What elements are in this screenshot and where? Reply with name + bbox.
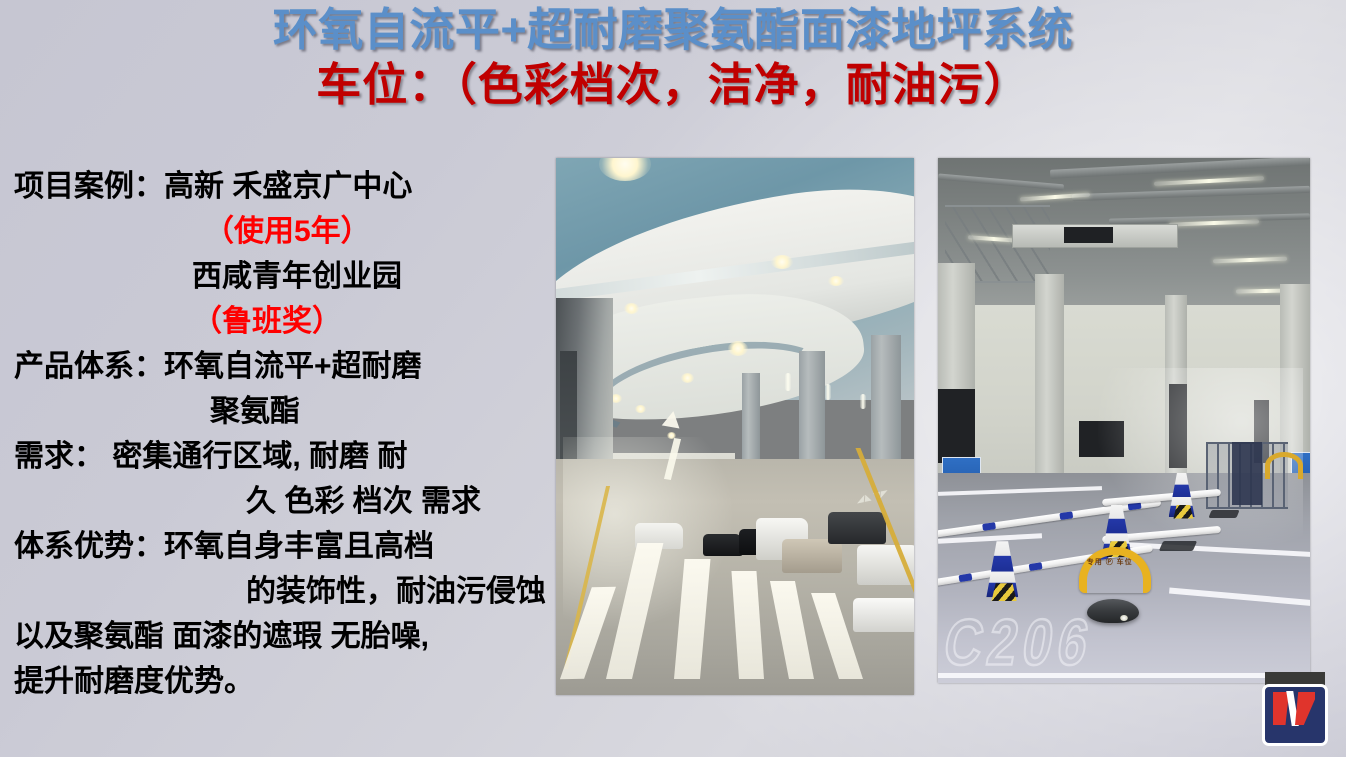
slide-title-block: 环氧自流平+超耐磨聚氨酯面漆地坪系统 车位：（色彩档次，洁净，耐油污） — [0, 6, 1346, 109]
structural-column — [1035, 274, 1065, 505]
body-line-luban-award: （鲁班奖） — [14, 299, 559, 344]
photo-left-garage-corridor: ◢◣◥◤ — [556, 158, 914, 695]
parked-car — [828, 512, 886, 544]
body-line-advantage-4: 提升耐磨度优势。 — [14, 659, 559, 704]
ceiling-tube-light — [785, 373, 791, 391]
ceiling-tube-light — [860, 394, 866, 409]
slide-body-text: 项目案例：高新 禾盛京广中心 （使用5年） 西咸青年创业园 （鲁班奖） 产品体系… — [14, 164, 559, 704]
floor-direction-arrow — [662, 409, 683, 428]
photo-right-parking-stalls: 专用 Ⓟ 车位 C206 — [938, 158, 1310, 683]
parking-lock-indicator — [1120, 615, 1128, 621]
title-line-2: 车位：（色彩档次，洁净，耐油污） — [0, 61, 1346, 110]
wall-dark-panel — [938, 389, 975, 463]
body-line-second-project: 西咸青年创业园 — [14, 254, 559, 299]
body-line-demand-2: 久 色彩 档次 需求 — [14, 479, 559, 524]
company-logo — [1262, 684, 1328, 757]
ceiling-light-icon — [635, 405, 646, 413]
body-line-project-case: 项目案例：高新 禾盛京广中心 — [14, 164, 559, 209]
body-line-product-system-2: 聚氨酯 — [14, 389, 559, 434]
crowd-barrier-panel — [1232, 442, 1262, 505]
floor-mat — [1208, 510, 1239, 518]
slide-canvas: 环氧自流平+超耐磨聚氨酯面漆地坪系统 车位：（色彩档次，洁净，耐油污） 项目案例… — [0, 0, 1346, 757]
body-line-advantage-2: 的装饰性，耐油污侵蚀 — [14, 569, 559, 614]
body-line-product-system: 产品体系：环氧自流平+超耐磨 — [14, 344, 559, 389]
parked-car — [703, 534, 743, 556]
floor-stall-number: C206 — [939, 605, 1101, 680]
overhead-sign-display — [1064, 227, 1112, 243]
body-line-demand: 需求： 密集通行区域, 耐磨 耐 — [14, 434, 559, 479]
body-line-usage-years: （使用5年） — [14, 209, 559, 254]
floor-mat — [1159, 541, 1197, 551]
ceiling-light-icon — [681, 373, 694, 383]
title-line-1: 环氧自流平+超耐磨聚氨酯面漆地坪系统 — [0, 6, 1346, 55]
wheel-stop-yellow — [1265, 452, 1303, 479]
parked-car — [853, 598, 914, 632]
body-line-advantage: 体系优势：环氧自身丰富且高档 — [14, 524, 559, 569]
ceiling-light-icon — [728, 341, 748, 356]
ceiling-light-icon — [624, 303, 639, 314]
body-line-advantage-3: 以及聚氨酯 面漆的遮瑕 无胎噪, — [14, 614, 559, 659]
ceiling-light-icon — [771, 255, 793, 269]
parking-lock-label: 专用 Ⓟ 车位 — [1087, 557, 1133, 567]
parked-car — [782, 539, 842, 573]
